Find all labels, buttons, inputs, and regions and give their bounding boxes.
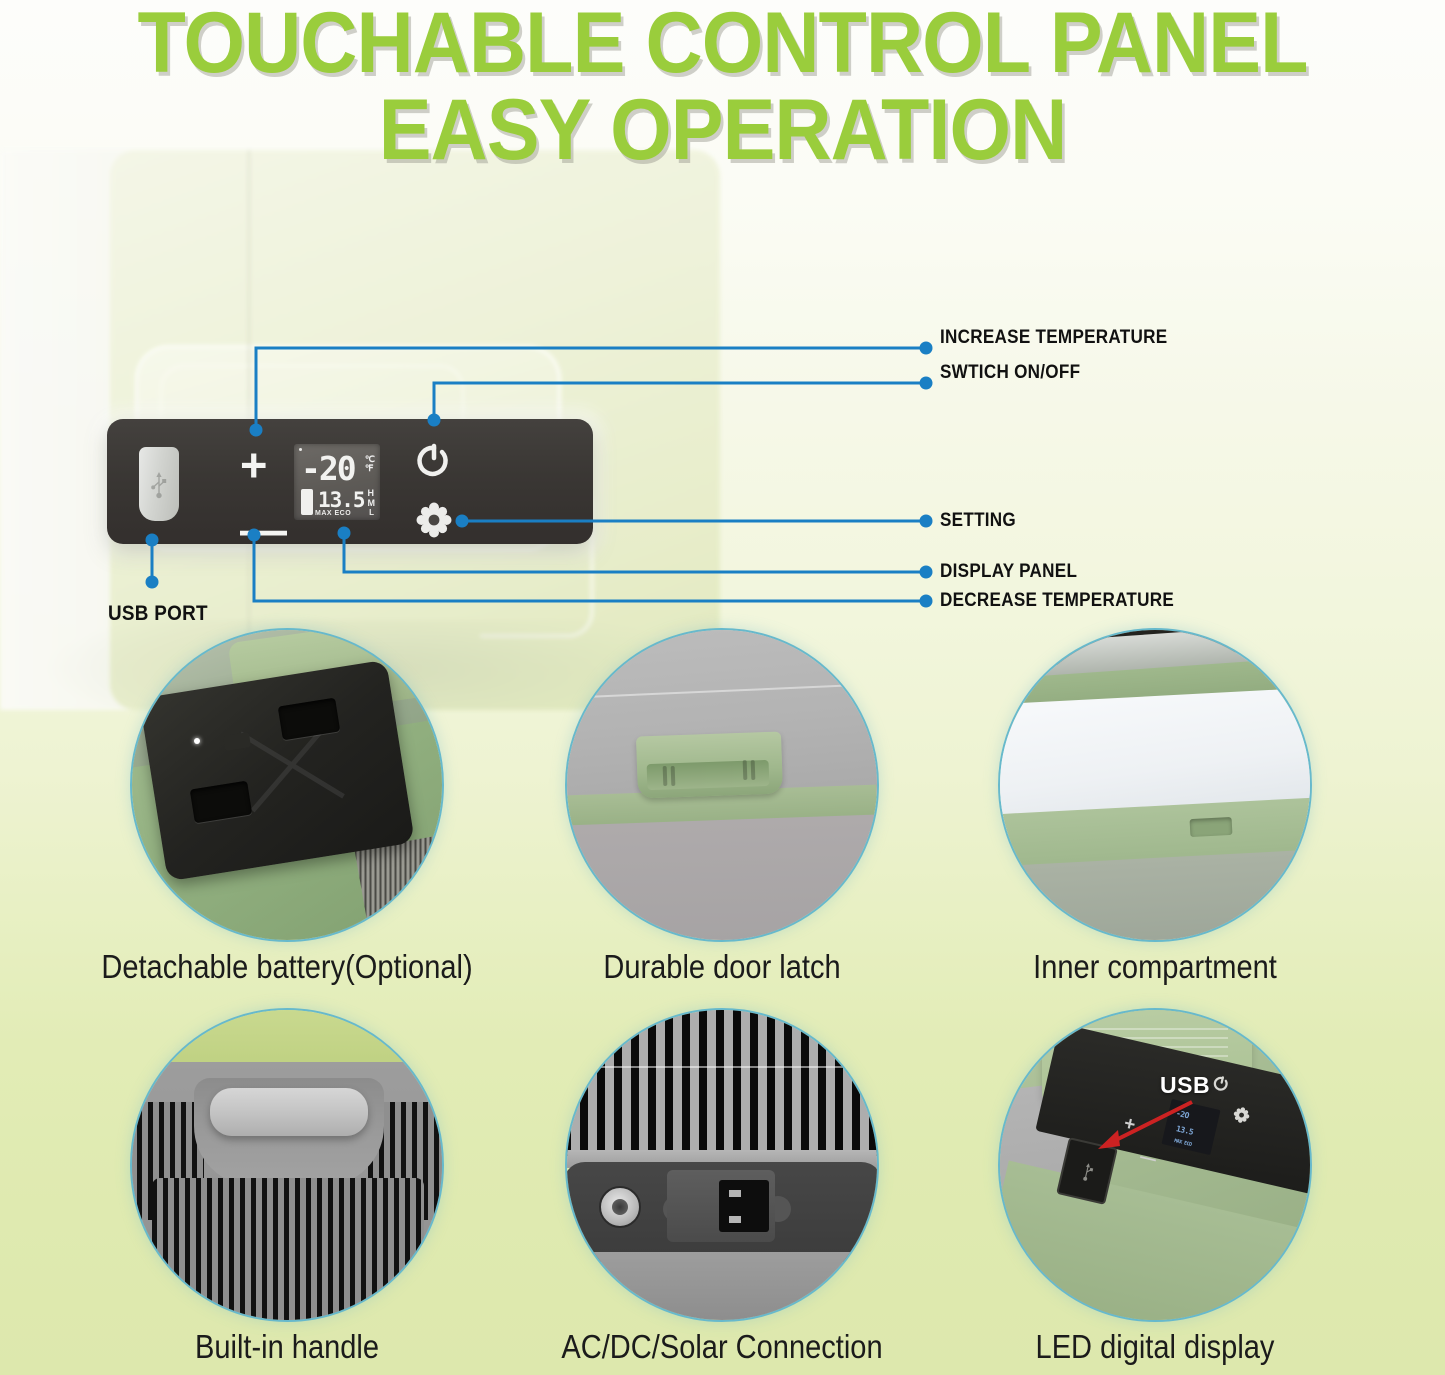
feature-photo-built-in-handle (130, 1008, 444, 1322)
feature-item-built-in-handle: Built-in handle (72, 1008, 502, 1366)
usb-icon (1078, 1160, 1096, 1183)
callout-label-decrease-temperature: DECREASE TEMPERATURE (940, 590, 1174, 612)
feature-item-led-display: + — -2O 13.5 MAX ECO (940, 1008, 1370, 1366)
dc-input-jack (599, 1186, 641, 1228)
feature-grid: Detachable battery(Optional) Durable doo… (0, 628, 1445, 1375)
callout-label-usb-port: USB PORT (108, 602, 208, 626)
infographic-page: TOUCHABLE CONTROL PANEL EASY OPERATION +… (0, 0, 1445, 1375)
feature-caption-door-latch: Durable door latch (533, 948, 911, 986)
feature-caption-led-display: LED digital display (966, 1328, 1344, 1366)
callout-label-switch-on-off: SWTICH ON/OFF (940, 362, 1080, 384)
callout-label-display-panel: DISPLAY PANEL (940, 561, 1077, 583)
photo-usb-label: USB (1160, 1072, 1210, 1099)
usb-pointer-arrow (1088, 1096, 1198, 1156)
feature-caption-built-in-handle: Built-in handle (98, 1328, 476, 1366)
feature-photo-led-display: + — -2O 13.5 MAX ECO (998, 1008, 1312, 1322)
callout-label-increase-temperature: INCREASE TEMPERATURE (940, 327, 1167, 349)
callout-lines (0, 0, 1445, 700)
callout-label-setting: SETTING (940, 510, 1016, 532)
feature-photo-ac-dc-solar (565, 1008, 879, 1322)
feature-caption-ac-dc-solar: AC/DC/Solar Connection (533, 1328, 911, 1366)
feature-item-ac-dc-solar: AC/DC/Solar Connection (507, 1008, 937, 1366)
feature-caption-inner-compartment: Inner compartment (966, 948, 1344, 986)
feature-caption-detachable-battery: Detachable battery(Optional) (98, 948, 476, 986)
